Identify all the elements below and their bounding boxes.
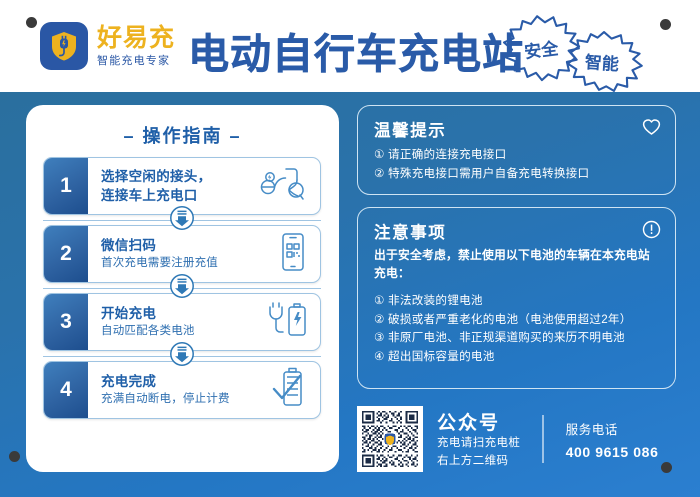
list-text: 特殊充电接口需用户自备充电转换接口 <box>388 167 589 180</box>
service-phone-number[interactable]: 400 9615 086 <box>566 444 659 460</box>
list-marker: ④ <box>374 348 388 367</box>
step-title-line2: 连接车上充电口 <box>101 186 211 205</box>
down-arrow-circle-icon <box>169 273 195 304</box>
page-title: 电动自行车充电站 <box>188 20 524 80</box>
step-connector <box>43 351 321 361</box>
corner-dot <box>26 17 37 28</box>
guide-steps: 1 选择空闲的接头， 连接车上充电口 <box>43 157 321 419</box>
exclamation-circle-icon <box>642 220 661 244</box>
badge-smart: 智能 <box>556 27 648 95</box>
tips-list: ①请正确的连接充电接口 ②特殊充电接口需用户自备充电转换接口 <box>358 141 675 184</box>
poster-footer: 公众号 充电请扫充电桩 右上方二维码 服务电话 400 9615 086 <box>357 400 677 478</box>
list-marker: ① <box>374 146 388 165</box>
public-account-block: 公众号 充电请扫充电桩 右上方二维码 <box>437 408 520 470</box>
notice-list: ①非法改装的锂电池 ②破损或者严重老化的电池（电池使用超过2年） ③非原厂电池、… <box>358 283 675 367</box>
list-item: ③非原厂电池、非正规渠道购买的来历不明电池 <box>374 329 665 348</box>
step-desc: 充满自动断电，停止计费 <box>101 391 230 408</box>
list-item: ①请正确的连接充电接口 <box>374 146 663 165</box>
service-phone-label: 服务电话 <box>566 419 659 438</box>
step-desc: 首次充电需要注册充值 <box>101 255 218 272</box>
warm-tips-card: 温馨提示 ①请正确的连接充电接口 ②特殊充电接口需用户自备充电转换接口 <box>357 105 676 195</box>
list-text: 非原厂电池、非正规渠道购买的来历不明电池 <box>388 331 625 344</box>
list-marker: ① <box>374 292 388 311</box>
footer-divider <box>542 415 543 463</box>
list-item: ①非法改装的锂电池 <box>374 292 665 311</box>
brand-logo: 好易充 智能充电专家 <box>40 22 175 70</box>
brand-text: 好易充 智能充电专家 <box>97 26 175 67</box>
down-arrow-circle-icon <box>169 341 195 372</box>
step-title: 开始充电 <box>101 304 195 323</box>
public-account-line2: 右上方二维码 <box>437 453 520 470</box>
step-title: 充电完成 <box>101 372 230 391</box>
list-text: 非法改装的锂电池 <box>388 294 483 307</box>
badge-smart-label: 智能 <box>556 27 648 95</box>
step-number: 4 <box>44 362 88 418</box>
operation-guide-card: – 操作指南 – 1 选择空闲的接头， 连接车上充电口 <box>26 105 339 472</box>
phone-qr-scan-icon <box>276 231 310 278</box>
brand-name: 好易充 <box>97 26 175 51</box>
battery-check-icon <box>270 366 310 415</box>
qr-code-icon[interactable] <box>357 406 423 472</box>
step-title: 选择空闲的接头， <box>101 167 211 186</box>
down-arrow-circle-icon <box>169 205 195 236</box>
notice-title: 注意事项 <box>374 219 446 243</box>
step-title: 微信扫码 <box>101 236 218 255</box>
list-text: 请正确的连接充电接口 <box>388 148 506 161</box>
notice-card: 注意事项 出于安全考虑，禁止使用以下电池的车辆在本充电站充电： ①非法改装的锂电… <box>357 207 676 389</box>
list-marker: ② <box>374 165 388 184</box>
scooter-charging-icon <box>256 164 310 209</box>
list-item: ②特殊充电接口需用户自备充电转换接口 <box>374 165 663 184</box>
step-number: 2 <box>44 226 88 282</box>
notice-lead: 出于安全考虑，禁止使用以下电池的车辆在本充电站充电： <box>358 244 675 283</box>
list-text: 超出国标容量的电池 <box>388 350 495 363</box>
shield-plug-icon <box>40 22 88 70</box>
guide-title: – 操作指南 – <box>26 122 339 148</box>
plug-battery-icon <box>264 299 310 346</box>
list-marker: ② <box>374 311 388 330</box>
step-desc: 自动匹配各类电池 <box>101 323 195 340</box>
service-phone-block: 服务电话 400 9615 086 <box>566 419 659 460</box>
step-connector <box>43 283 321 293</box>
step-number: 1 <box>44 158 88 214</box>
list-item: ④超出国标容量的电池 <box>374 348 665 367</box>
list-marker: ③ <box>374 329 388 348</box>
poster-header: 好易充 智能充电专家 电动自行车充电站 安全 智能 <box>0 0 700 92</box>
step-connector <box>43 215 321 225</box>
public-account-title: 公众号 <box>437 408 520 435</box>
corner-dot <box>9 451 20 462</box>
brand-tagline: 智能充电专家 <box>97 56 175 67</box>
tips-title: 温馨提示 <box>374 117 446 141</box>
list-item: ②破损或者严重老化的电池（电池使用超过2年） <box>374 311 665 330</box>
step-number: 3 <box>44 294 88 350</box>
public-account-line1: 充电请扫充电桩 <box>437 435 520 452</box>
corner-dot <box>660 19 671 30</box>
list-text: 破损或者严重老化的电池（电池使用超过2年） <box>388 313 632 326</box>
heart-icon <box>642 118 661 141</box>
charging-station-poster: 好易充 智能充电专家 电动自行车充电站 安全 智能 – 操作指南 – 1 <box>0 0 700 497</box>
